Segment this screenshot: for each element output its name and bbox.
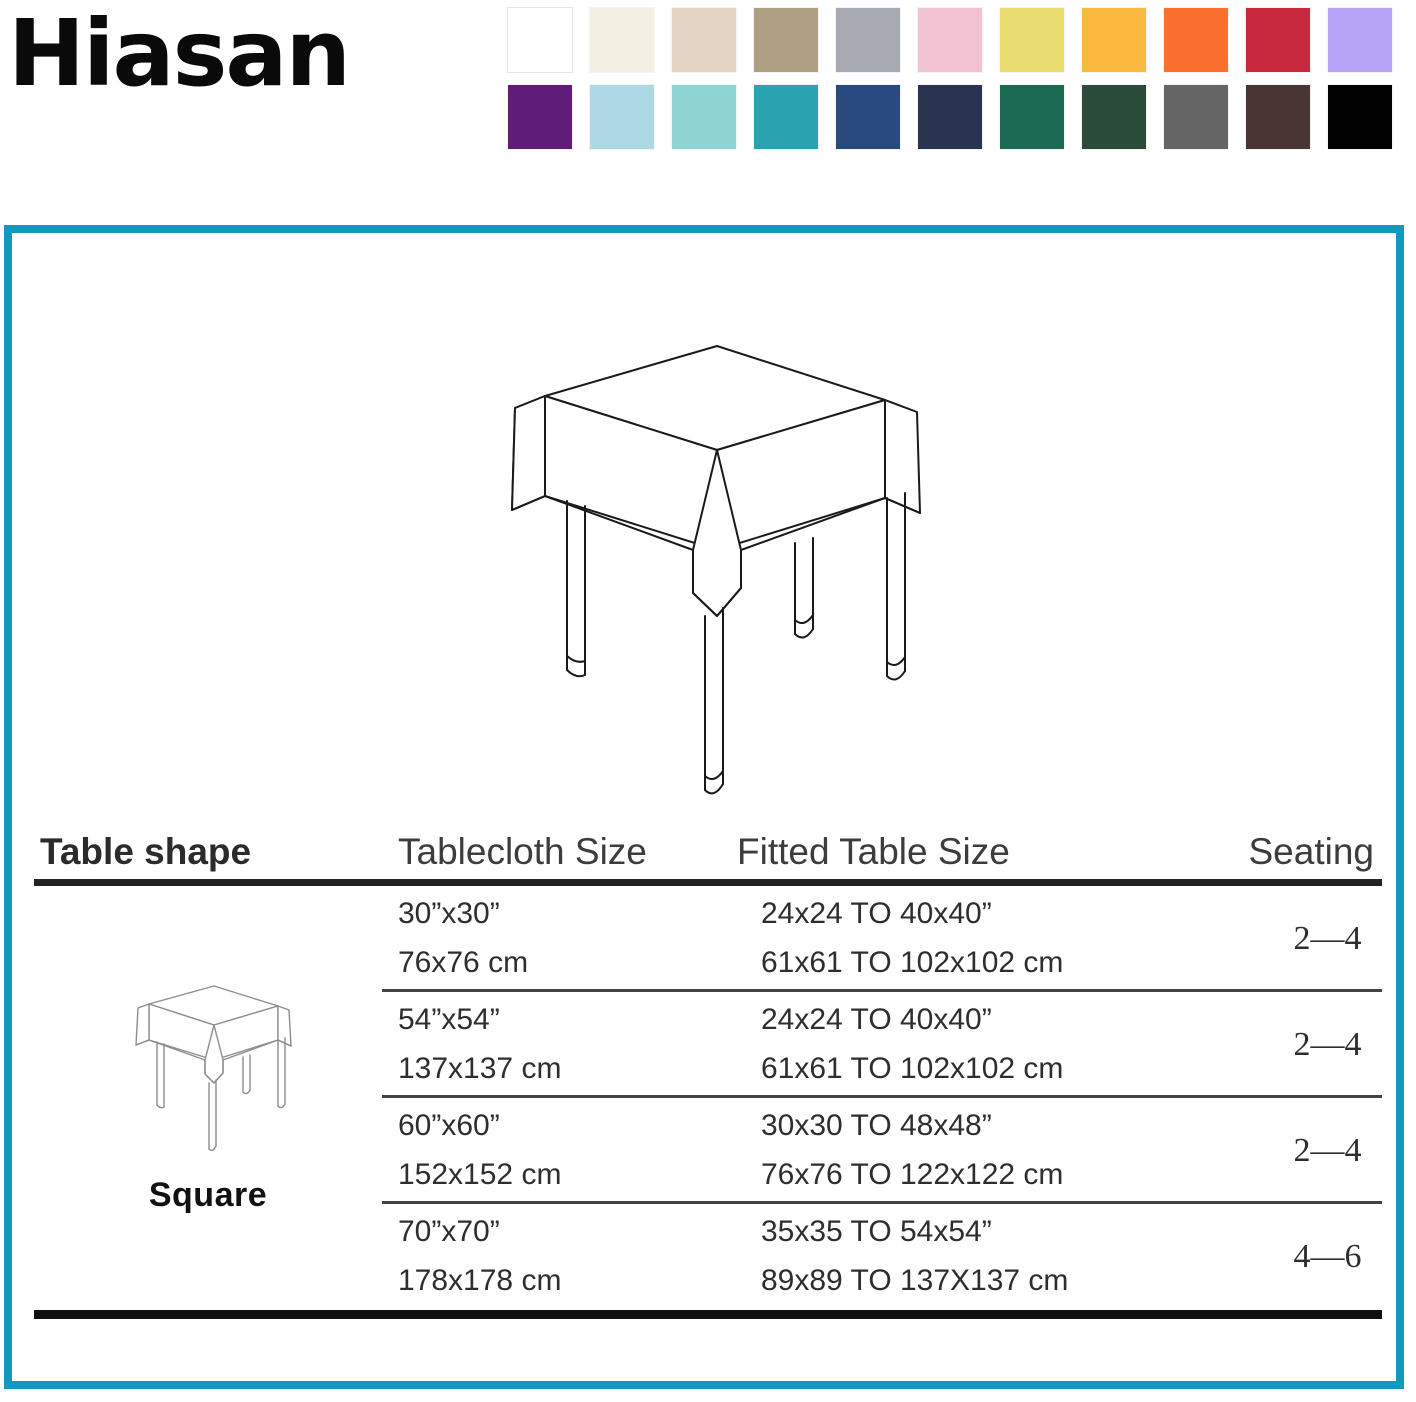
fitted-size-inches: 30x30 TO 48x48” bbox=[761, 1102, 1241, 1151]
cloth-size-inches: 54”x54” bbox=[398, 996, 753, 1045]
color-swatch-dark-green[interactable] bbox=[1082, 85, 1146, 149]
table-bottom-rule bbox=[34, 1310, 1382, 1319]
cell-tablecloth-size: 60”x60” 152x152 cm bbox=[374, 1102, 753, 1199]
fitted-size-cm: 89x89 TO 137X137 cm bbox=[761, 1257, 1241, 1306]
fitted-size-inches: 35x35 TO 54x54” bbox=[761, 1208, 1241, 1257]
color-swatch-light-blue[interactable] bbox=[590, 85, 654, 149]
cloth-size-inches: 30”x30” bbox=[398, 890, 753, 939]
table-body: Square 30”x30” 76x76 cm 24x24 TO 40x40” … bbox=[34, 886, 1382, 1310]
color-swatch-gray[interactable] bbox=[836, 8, 900, 72]
color-swatch-lavender[interactable] bbox=[1328, 8, 1392, 72]
header-band: Hiasan bbox=[0, 0, 1416, 225]
color-swatch-brown[interactable] bbox=[1246, 85, 1310, 149]
header-tablecloth-size: Tablecloth Size bbox=[374, 833, 729, 870]
cell-seating: 2—4 bbox=[1241, 1123, 1414, 1178]
cell-tablecloth-size: 30”x30” 76x76 cm bbox=[374, 890, 753, 987]
cloth-size-cm: 76x76 cm bbox=[398, 939, 753, 988]
color-swatch-purple[interactable] bbox=[508, 85, 572, 149]
color-swatch-dark-navy[interactable] bbox=[918, 85, 982, 149]
color-swatch-white[interactable] bbox=[508, 8, 572, 72]
cloth-size-cm: 178x178 cm bbox=[398, 1257, 753, 1306]
color-swatch-aqua[interactable] bbox=[672, 85, 736, 149]
cell-seating: 2—4 bbox=[1241, 1017, 1414, 1072]
table-row: 54”x54” 137x137 cm 24x24 TO 40x40” 61x61… bbox=[34, 992, 1382, 1098]
cloth-size-cm: 152x152 cm bbox=[398, 1151, 753, 1200]
table-illustration bbox=[417, 338, 987, 808]
fitted-size-cm: 76x76 TO 122x122 cm bbox=[761, 1151, 1241, 1200]
color-swatch-taupe[interactable] bbox=[754, 8, 818, 72]
cloth-size-inches: 70”x70” bbox=[398, 1208, 753, 1257]
size-table: Table shape Tablecloth Size Fitted Table… bbox=[34, 808, 1382, 1319]
cell-fitted-table-size: 30x30 TO 48x48” 76x76 TO 122x122 cm bbox=[753, 1102, 1241, 1199]
cell-fitted-table-size: 24x24 TO 40x40” 61x61 TO 102x102 cm bbox=[753, 890, 1241, 987]
cell-tablecloth-size: 54”x54” 137x137 cm bbox=[374, 996, 753, 1093]
header-divider bbox=[34, 879, 1382, 886]
table-row: 30”x30” 76x76 cm 24x24 TO 40x40” 61x61 T… bbox=[34, 886, 1382, 992]
cloth-size-inches: 60”x60” bbox=[398, 1102, 753, 1151]
cell-fitted-table-size: 24x24 TO 40x40” 61x61 TO 102x102 cm bbox=[753, 996, 1241, 1093]
cell-seating: 2—4 bbox=[1241, 911, 1414, 966]
cell-seating: 4—6 bbox=[1241, 1229, 1414, 1284]
cell-tablecloth-size: 70”x70” 178x178 cm bbox=[374, 1208, 753, 1305]
cloth-size-cm: 137x137 cm bbox=[398, 1045, 753, 1094]
sizing-panel: Table shape Tablecloth Size Fitted Table… bbox=[4, 225, 1404, 1389]
color-swatch-beige[interactable] bbox=[672, 8, 736, 72]
fitted-size-cm: 61x61 TO 102x102 cm bbox=[761, 1045, 1241, 1094]
header-table-shape: Table shape bbox=[34, 833, 374, 870]
table-header-row: Table shape Tablecloth Size Fitted Table… bbox=[34, 808, 1382, 870]
color-swatch-navy-blue[interactable] bbox=[836, 85, 900, 149]
header-fitted-table-size: Fitted Table Size bbox=[729, 833, 1209, 870]
brand-logo: Hiasan bbox=[8, 8, 349, 100]
color-swatch-pink[interactable] bbox=[918, 8, 982, 72]
color-swatch-teal[interactable] bbox=[754, 85, 818, 149]
color-swatch-row-1 bbox=[508, 8, 1408, 72]
table-row: 60”x60” 152x152 cm 30x30 TO 48x48” 76x76… bbox=[34, 1098, 1382, 1204]
table-row: 70”x70” 178x178 cm 35x35 TO 54x54” 89x89… bbox=[34, 1204, 1382, 1310]
color-swatch-yellow[interactable] bbox=[1000, 8, 1064, 72]
color-swatch-charcoal-gray[interactable] bbox=[1164, 85, 1228, 149]
color-swatch-black[interactable] bbox=[1328, 85, 1392, 149]
color-swatch-orange[interactable] bbox=[1164, 8, 1228, 72]
fitted-size-inches: 24x24 TO 40x40” bbox=[761, 996, 1241, 1045]
header-seating: Seating bbox=[1209, 833, 1382, 870]
cell-fitted-table-size: 35x35 TO 54x54” 89x89 TO 137X137 cm bbox=[753, 1208, 1241, 1305]
color-swatch-green[interactable] bbox=[1000, 85, 1064, 149]
color-swatch-crimson[interactable] bbox=[1246, 8, 1310, 72]
color-swatch-amber[interactable] bbox=[1082, 8, 1146, 72]
color-swatch-row-2 bbox=[508, 85, 1408, 149]
color-swatch-grid bbox=[508, 8, 1408, 149]
fitted-size-cm: 61x61 TO 102x102 cm bbox=[761, 939, 1241, 988]
color-swatch-cream[interactable] bbox=[590, 8, 654, 72]
fitted-size-inches: 24x24 TO 40x40” bbox=[761, 890, 1241, 939]
